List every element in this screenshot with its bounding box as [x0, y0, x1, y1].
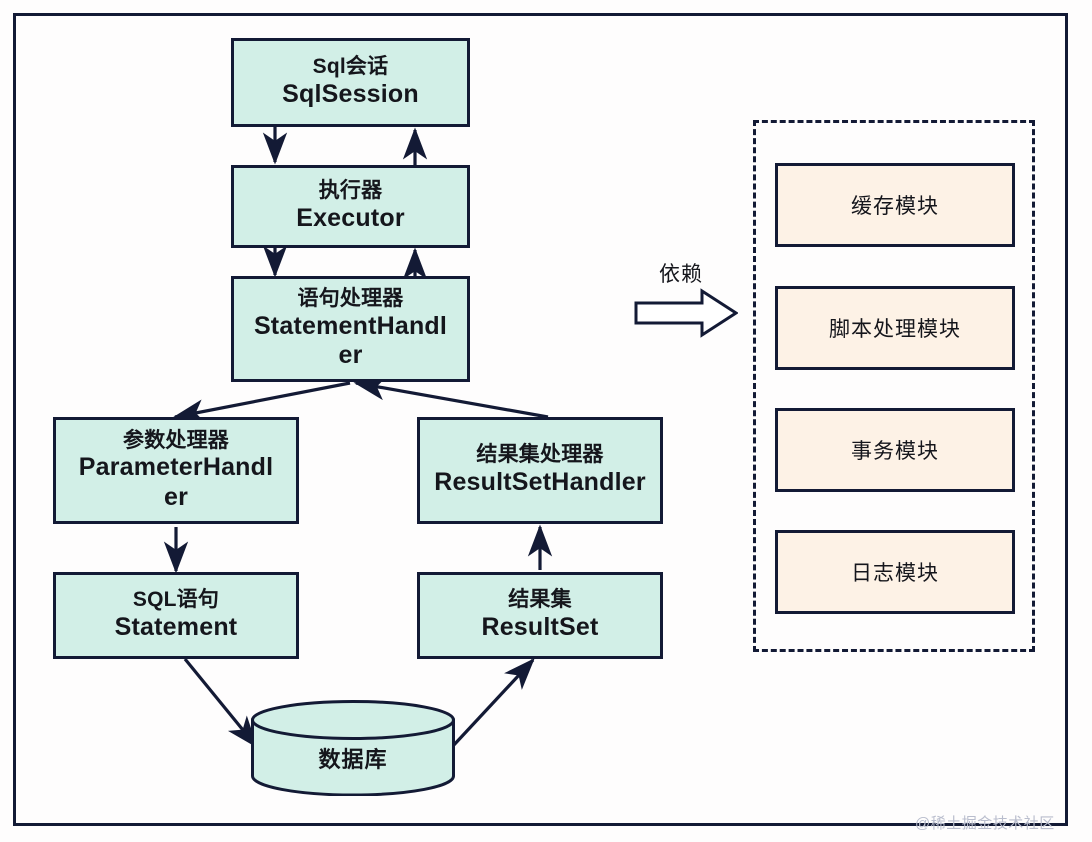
module-script[interactable]: 脚本处理模块: [775, 286, 1015, 370]
node-sqlsession-cn: Sql会话: [240, 55, 461, 80]
node-resultsethandler[interactable]: 结果集处理器 ResultSetHandler: [417, 417, 663, 524]
node-statement[interactable]: SQL语句 Statement: [53, 572, 299, 659]
module-cache[interactable]: 缓存模块: [775, 163, 1015, 247]
node-executor-cn: 执行器: [240, 179, 461, 204]
node-statementhandler-cn: 语句处理器: [240, 287, 461, 312]
node-sqlsession-en: SqlSession: [240, 80, 461, 110]
module-transaction-label: 事务模块: [851, 435, 939, 465]
module-script-label: 脚本处理模块: [829, 313, 961, 343]
node-parameterhandler-en-line1: ParameterHandl: [62, 453, 290, 483]
diagram-canvas: 数据库 Sql会话 SqlSession 执行器 Executor 语句处理器 …: [0, 0, 1092, 842]
node-statementhandler-en-line1: StatementHandl: [240, 312, 461, 342]
dependency-label: 依赖: [659, 258, 703, 288]
node-sqlsession[interactable]: Sql会话 SqlSession: [231, 38, 470, 127]
dependency-block-arrow-icon: [634, 288, 738, 338]
node-resultsethandler-cn: 结果集处理器: [426, 443, 654, 468]
node-resultsethandler-en: ResultSetHandler: [426, 468, 654, 498]
node-parameterhandler-cn: 参数处理器: [62, 429, 290, 454]
node-parameterhandler[interactable]: 参数处理器 ParameterHandl er: [53, 417, 299, 524]
node-resultset-en: ResultSet: [426, 613, 654, 643]
node-statement-cn: SQL语句: [62, 588, 290, 613]
watermark: @稀土掘金技术社区: [915, 812, 1055, 833]
node-executor[interactable]: 执行器 Executor: [231, 165, 470, 248]
module-logging-label: 日志模块: [851, 557, 939, 587]
node-resultset-cn: 结果集: [426, 588, 654, 613]
module-cache-label: 缓存模块: [851, 190, 939, 220]
node-statementhandler-en-line2: er: [240, 341, 461, 371]
module-logging[interactable]: 日志模块: [775, 530, 1015, 614]
node-resultset[interactable]: 结果集 ResultSet: [417, 572, 663, 659]
module-transaction[interactable]: 事务模块: [775, 408, 1015, 492]
node-statementhandler[interactable]: 语句处理器 StatementHandl er: [231, 276, 470, 382]
node-parameterhandler-en-line2: er: [62, 483, 290, 513]
database-label: 数据库: [250, 742, 456, 774]
node-executor-en: Executor: [240, 204, 461, 234]
node-statement-en: Statement: [62, 613, 290, 643]
